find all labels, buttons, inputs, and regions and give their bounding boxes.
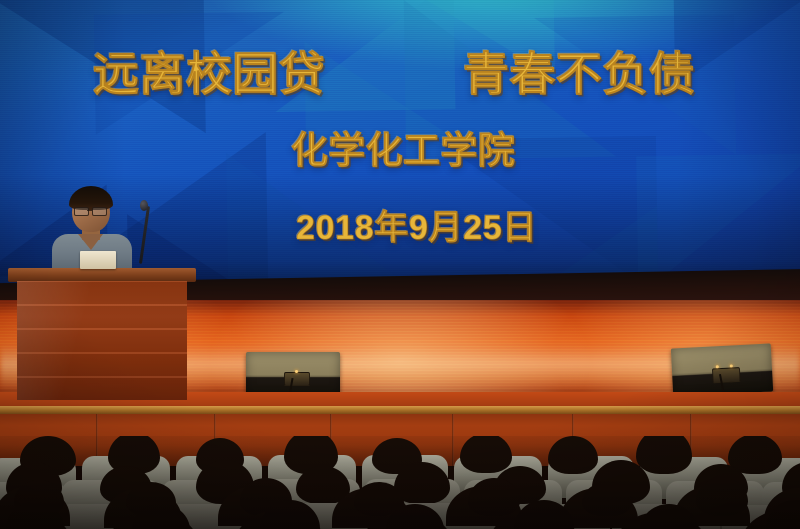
speech-notes-paper xyxy=(80,251,116,269)
event-date-text: 2018年9月25日 xyxy=(296,209,537,247)
monitor-connector-plate xyxy=(712,367,741,383)
podium-and-speaker-group xyxy=(8,186,208,416)
podium-top-surface xyxy=(8,268,196,282)
microphone-stem xyxy=(139,206,150,264)
glasses-lens-right xyxy=(92,207,107,216)
glasses-bridge xyxy=(87,210,92,211)
audience-shadow-grade xyxy=(0,436,800,529)
glasses-lens-left xyxy=(74,207,89,216)
podium-front-panel xyxy=(17,281,187,400)
microphone-capsule xyxy=(140,200,148,211)
monitor-connector-plate xyxy=(284,372,310,385)
headline-left-text: 远离校园贷 xyxy=(93,49,325,99)
headline-right-text: 青春不负债 xyxy=(463,49,695,99)
stage-monitor-right xyxy=(671,343,773,396)
organization-text: 化学化工学院 xyxy=(291,130,515,171)
monitor-led-indicator xyxy=(295,370,298,373)
wooden-podium xyxy=(8,268,196,400)
photograph-scene: 远离校园贷 青春不负债 化学化工学院 2018年9月25日 xyxy=(0,0,800,529)
stage-monitor-left xyxy=(246,352,340,396)
audience-seating xyxy=(0,436,800,529)
